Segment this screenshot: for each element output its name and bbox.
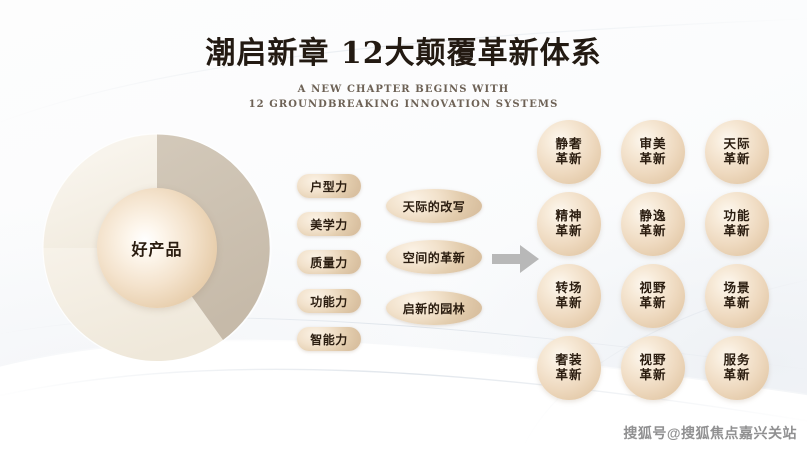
capability-pill-2[interactable]: 美学力 (297, 212, 361, 236)
system-sphere-6-line1: 功能 (723, 209, 750, 224)
system-sphere-3[interactable]: 天际 革新 (705, 120, 769, 184)
system-sphere-10-line2: 革新 (555, 368, 582, 383)
system-sphere-4-line1: 精神 (555, 209, 582, 224)
system-sphere-9-line2: 革新 (723, 296, 750, 311)
system-sphere-11-line2: 革新 (639, 368, 666, 383)
system-sphere-5[interactable]: 静逸 革新 (621, 192, 685, 256)
system-sphere-4-line2: 革新 (555, 224, 582, 239)
system-sphere-12[interactable]: 服务 革新 (705, 336, 769, 400)
system-sphere-4[interactable]: 精神 革新 (537, 192, 601, 256)
innovation-pill-1[interactable]: 天际的改写 (386, 189, 482, 223)
slide-canvas: 潮启新章 12大颠覆革新体系 A NEW CHAPTER BEGINS WITH… (0, 0, 807, 454)
donut-core-label: 好产品 (131, 236, 182, 260)
system-sphere-11-line1: 视野 (639, 353, 666, 368)
capability-pill-1-label: 户型力 (310, 178, 348, 195)
system-sphere-9[interactable]: 场景 革新 (705, 264, 769, 328)
subtitle-line-1: A NEW CHAPTER BEGINS WITH (0, 82, 807, 98)
system-sphere-3-line1: 天际 (723, 137, 750, 152)
capability-pill-3[interactable]: 质量力 (297, 250, 361, 274)
system-sphere-10-line1: 奢装 (555, 353, 582, 368)
system-sphere-7[interactable]: 转场 革新 (537, 264, 601, 328)
system-sphere-10[interactable]: 奢装 革新 (537, 336, 601, 400)
page-title: 潮启新章 12大颠覆革新体系 (0, 36, 807, 73)
system-sphere-12-line2: 革新 (723, 368, 750, 383)
system-sphere-7-line1: 转场 (555, 281, 582, 296)
capability-pill-4-label: 功能力 (310, 293, 348, 310)
system-sphere-1-line2: 革新 (555, 152, 582, 167)
system-sphere-3-line2: 革新 (723, 152, 750, 167)
capability-pill-4[interactable]: 功能力 (297, 289, 361, 313)
system-sphere-9-line1: 场景 (723, 281, 750, 296)
innovation-pill-2[interactable]: 空间的革新 (386, 240, 482, 274)
system-sphere-5-line2: 革新 (639, 224, 666, 239)
system-sphere-7-line2: 革新 (555, 296, 582, 311)
subtitle-line-2: 12 GROUNDBREAKING INNOVATION SYSTEMS (0, 97, 807, 113)
capability-pill-1[interactable]: 户型力 (297, 174, 361, 198)
watermark: 搜狐号@搜狐焦点嘉兴关站 (623, 423, 797, 443)
capability-pill-5-label: 智能力 (310, 331, 348, 348)
donut-diagram: 好产品 (41, 132, 273, 364)
innovation-pill-3[interactable]: 启新的园林 (386, 291, 482, 325)
capability-pill-2-label: 美学力 (310, 216, 348, 233)
capability-pill-3-label: 质量力 (310, 254, 348, 271)
system-sphere-8-line1: 视野 (639, 281, 666, 296)
system-sphere-11[interactable]: 视野 革新 (621, 336, 685, 400)
capability-pill-5[interactable]: 智能力 (297, 327, 361, 351)
innovation-pill-3-label: 启新的园林 (403, 300, 466, 317)
system-sphere-2-line2: 革新 (639, 152, 666, 167)
system-sphere-12-line1: 服务 (723, 353, 750, 368)
arrow-right-icon (492, 244, 540, 274)
innovation-pill-2-label: 空间的革新 (403, 249, 466, 266)
system-sphere-5-line1: 静逸 (639, 209, 666, 224)
system-sphere-6[interactable]: 功能 革新 (705, 192, 769, 256)
system-sphere-6-line2: 革新 (723, 224, 750, 239)
title-block: 潮启新章 12大颠覆革新体系 A NEW CHAPTER BEGINS WITH… (0, 36, 807, 113)
system-sphere-8-line2: 革新 (639, 296, 666, 311)
system-sphere-2[interactable]: 审美 革新 (621, 120, 685, 184)
system-sphere-1-line1: 静奢 (555, 137, 582, 152)
page-subtitle: A NEW CHAPTER BEGINS WITH 12 GROUNDBREAK… (0, 82, 807, 113)
system-sphere-1[interactable]: 静奢 革新 (537, 120, 601, 184)
system-sphere-2-line1: 审美 (639, 137, 666, 152)
donut-core-sphere: 好产品 (97, 188, 217, 308)
system-sphere-8[interactable]: 视野 革新 (621, 264, 685, 328)
innovation-pill-1-label: 天际的改写 (403, 198, 466, 215)
